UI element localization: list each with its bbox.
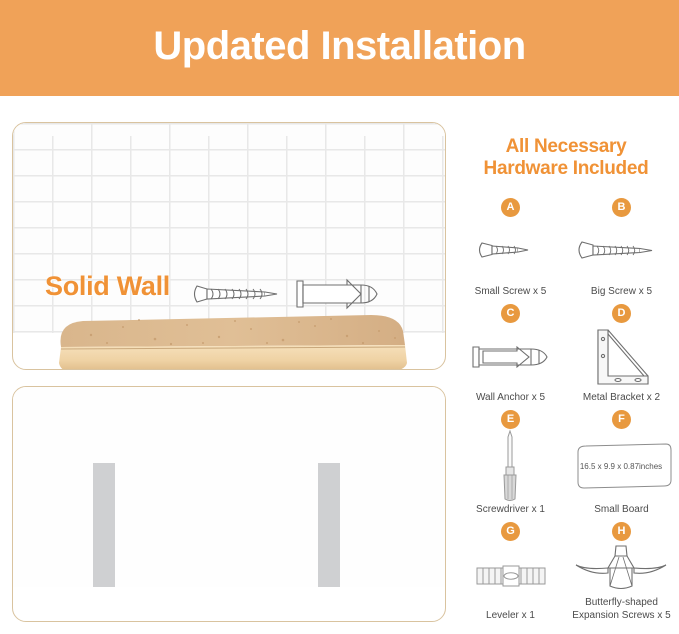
label-a: Small Screw x 5 xyxy=(471,285,551,300)
board-dimension-text: 16.5 x 9.9 x 0.87inches xyxy=(579,462,661,471)
wall-anchor-art xyxy=(455,323,566,391)
page-header-banner: Updated Installation xyxy=(0,0,679,96)
metal-bracket-icon xyxy=(586,326,658,388)
hardware-item-b: B xyxy=(566,194,677,300)
hardware-item-grid: A Small Screw x 5 xyxy=(455,194,677,624)
label-h: Butterfly-shaped Expansion Screws x 5 xyxy=(566,596,677,624)
label-b: Big Screw x 5 xyxy=(587,285,656,300)
drywall-background xyxy=(13,387,445,587)
page-title: Updated Installation xyxy=(153,26,525,70)
small-screw-icon xyxy=(474,238,548,264)
hardware-title-line2: Hardware Included xyxy=(455,158,677,180)
panel-title-solid-wall: Solid Wall xyxy=(45,271,170,302)
big-screw-icon xyxy=(574,238,670,264)
badge-d: D xyxy=(612,304,631,323)
butterfly-screw-icon xyxy=(574,544,670,594)
badge-h: H xyxy=(612,522,631,541)
badge-f: F xyxy=(612,410,631,429)
hardware-item-g: G Leveler x 1 xyxy=(455,518,566,624)
leveler-art xyxy=(455,541,566,609)
solid-wall-hardware-icons xyxy=(191,277,391,311)
screw-icon xyxy=(195,286,278,302)
screwdriver-icon xyxy=(493,429,529,503)
hardware-item-d: D Meta xyxy=(566,300,677,406)
label-c: Wall Anchor x 5 xyxy=(472,391,549,406)
wall-anchor-icon xyxy=(471,341,551,373)
badge-g: G xyxy=(501,522,520,541)
small-screw-art xyxy=(455,217,566,285)
hardware-item-f: F 16.5 x 9.9 x 0.87inches Small Board xyxy=(566,406,677,518)
screwdriver-art xyxy=(455,429,566,503)
wall-anchor-icon xyxy=(297,280,377,308)
small-board-art: 16.5 x 9.9 x 0.87inches xyxy=(566,429,677,503)
leveler-icon xyxy=(473,558,549,592)
label-g: Leveler x 1 xyxy=(482,609,539,624)
big-screw-art xyxy=(566,217,677,285)
badge-c: C xyxy=(501,304,520,323)
wall-stud-left xyxy=(93,463,115,587)
hardware-item-c: C Wall Anchor x 5 xyxy=(455,300,566,406)
hardware-section-title: All Necessary Hardware Included xyxy=(455,136,677,180)
butterfly-screw-art xyxy=(566,541,677,596)
label-d: Metal Bracket x 2 xyxy=(579,391,664,406)
small-board-icon: 16.5 x 9.9 x 0.87inches xyxy=(570,442,674,490)
label-e: Screwdriver x 1 xyxy=(472,503,549,518)
hardware-item-h: H Butterfly-shaped Expansion Screws xyxy=(566,518,677,624)
label-f: Small Board xyxy=(590,503,652,518)
installation-instruction-page: Updated Installation xyxy=(0,0,679,634)
hardware-item-e: E Screwdriver x 1 xyxy=(455,406,566,518)
badge-e: E xyxy=(501,410,520,429)
hardware-item-a: A Small Screw x 5 xyxy=(455,194,566,300)
badge-b: B xyxy=(612,198,631,217)
hardware-title-line1: All Necessary xyxy=(455,136,677,158)
badge-a: A xyxy=(501,198,520,217)
shelf-illustration-solid xyxy=(31,313,431,370)
hardware-included-section: All Necessary Hardware Included A xyxy=(455,122,677,627)
panel-drywall: Note: Drywall / hollow wall xyxy=(12,386,446,622)
metal-bracket-art xyxy=(566,323,677,391)
panel-solid-wall: Solid Wall xyxy=(12,122,446,370)
wall-stud-right xyxy=(318,463,340,587)
